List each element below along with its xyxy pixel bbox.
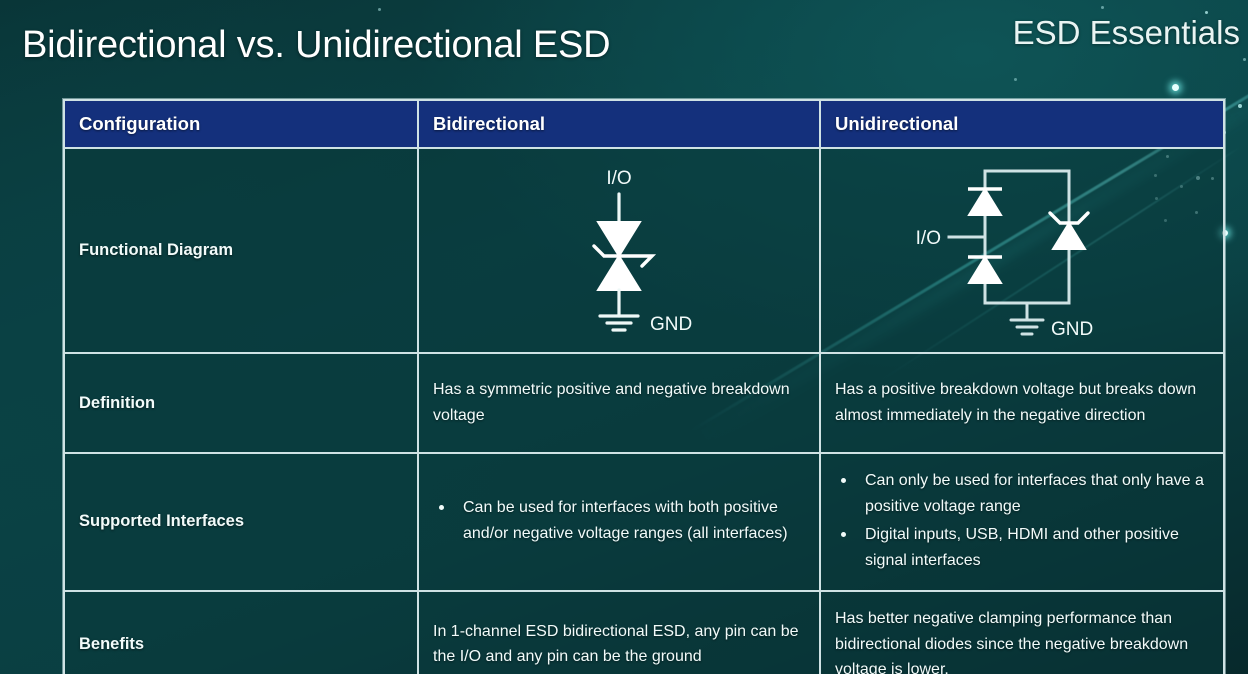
- table-row: Functional Diagram: [63, 149, 1225, 354]
- io-label: I/O: [606, 168, 631, 189]
- table-row: Definition Has a symmetric positive and …: [63, 354, 1225, 454]
- column-header-configuration: Configuration: [63, 99, 419, 149]
- column-header-bidirectional: Bidirectional: [419, 99, 821, 149]
- series-brand-label: ESD Essentials: [1013, 14, 1240, 52]
- particle-dot: [1172, 84, 1179, 91]
- bidirectional-tvs-diode-symbol: I/O GND: [524, 156, 714, 346]
- benefits-unidirectional: Has better negative clamping performance…: [821, 592, 1225, 674]
- particle-dot: [1238, 104, 1242, 108]
- row-label-definition: Definition: [63, 354, 419, 454]
- bidirectional-diagram-cell: I/O GND: [419, 149, 821, 354]
- unidirectional-diagram-cell: I/O GND: [821, 149, 1225, 354]
- particle-dot: [1101, 6, 1104, 9]
- gnd-label: GND: [650, 314, 692, 335]
- table-head: Configuration Bidirectional Unidirection…: [63, 99, 1225, 149]
- row-label-functional-diagram: Functional Diagram: [63, 149, 419, 354]
- table-row: Benefits In 1-channel ESD bidirectional …: [63, 592, 1225, 674]
- column-header-unidirectional: Unidirectional: [821, 99, 1225, 149]
- row-label-benefits: Benefits: [63, 592, 419, 674]
- io-label: I/O: [916, 228, 941, 249]
- supported-interfaces-bidirectional: Can be used for interfaces with both pos…: [419, 454, 821, 592]
- supported-interfaces-unidirectional: Can only be used for interfaces that onl…: [821, 454, 1225, 592]
- comparison-table: Configuration Bidirectional Unidirection…: [63, 99, 1225, 674]
- particle-dot: [378, 8, 381, 11]
- bullet-list: Can only be used for interfaces that onl…: [835, 468, 1207, 574]
- definition-bidirectional: Has a symmetric positive and negative br…: [419, 354, 821, 454]
- row-label-supported-interfaces: Supported Interfaces: [63, 454, 419, 592]
- gnd-label: GND: [1051, 319, 1093, 340]
- unidirectional-tvs-diode-symbol: I/O GND: [897, 153, 1147, 348]
- benefits-bidirectional: In 1-channel ESD bidirectional ESD, any …: [419, 592, 821, 674]
- table-row: Supported Interfaces Can be used for int…: [63, 454, 1225, 592]
- list-item: Can only be used for interfaces that onl…: [835, 468, 1207, 520]
- particle-dot: [1014, 78, 1017, 81]
- slide-canvas: Bidirectional vs. Unidirectional ESD ESD…: [0, 0, 1248, 674]
- particle-dot: [1243, 58, 1246, 61]
- table-header-row: Configuration Bidirectional Unidirection…: [63, 99, 1225, 149]
- definition-unidirectional: Has a positive breakdown voltage but bre…: [821, 354, 1225, 454]
- table-body: Functional Diagram: [63, 149, 1225, 674]
- list-item: Can be used for interfaces with both pos…: [433, 495, 803, 547]
- bullet-list: Can be used for interfaces with both pos…: [433, 495, 803, 547]
- list-item: Digital inputs, USB, HDMI and other posi…: [835, 522, 1207, 574]
- page-title: Bidirectional vs. Unidirectional ESD: [22, 24, 610, 67]
